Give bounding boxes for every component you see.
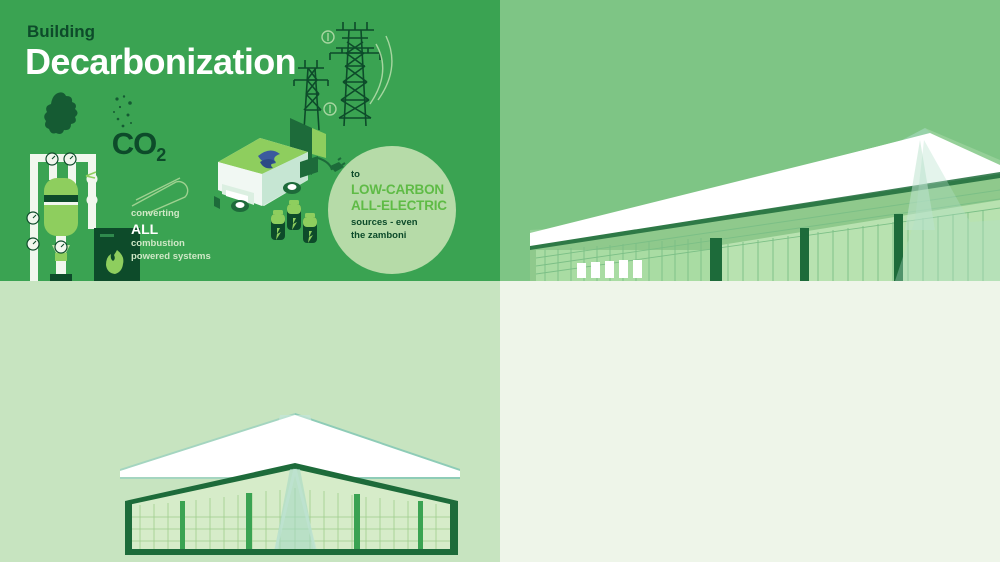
bubble-line-4: sources - even	[351, 217, 447, 230]
bubble-line-2: LOW-CARBON	[351, 182, 447, 198]
panel-eyebrow: Building	[27, 22, 95, 41]
battery-icon	[268, 198, 318, 244]
panel-renewable-electricity: CLIMATE PLEDGE ARENA	[500, 0, 1000, 281]
callout-line-2: ALL	[131, 221, 211, 239]
gas-boiler-icon	[22, 140, 142, 281]
callout-converting: converting ALL combustion powered system…	[131, 208, 211, 264]
page-title: Decarbonization	[25, 42, 296, 82]
co2-specks-icon	[112, 95, 136, 130]
panel-decarbonization: CO2	[0, 0, 500, 281]
panel-net-zero: Achieving Net Zero Embodied Carbon throu…	[500, 281, 1000, 562]
arena-roof-icon	[120, 401, 460, 561]
callout-line-3: combustion	[131, 238, 211, 251]
callout-line-1: converting	[131, 208, 211, 221]
arena-building-icon	[500, 100, 1000, 281]
panel-low-embodied-carbon: CLIMATE PLEDGE ARENA Low Embodied Carbon…	[0, 281, 500, 562]
bubble-line-5: the zamboni	[351, 230, 447, 243]
bubble-low-carbon-text: to LOW-CARBON ALL-ELECTRIC sources - eve…	[351, 169, 447, 242]
bubble-line-1: to	[351, 169, 447, 182]
callout-line-4: powered systems	[131, 251, 211, 264]
bubble-line-3: ALL-ELECTRIC	[351, 198, 447, 214]
infographic-canvas: CO2	[0, 0, 1000, 562]
